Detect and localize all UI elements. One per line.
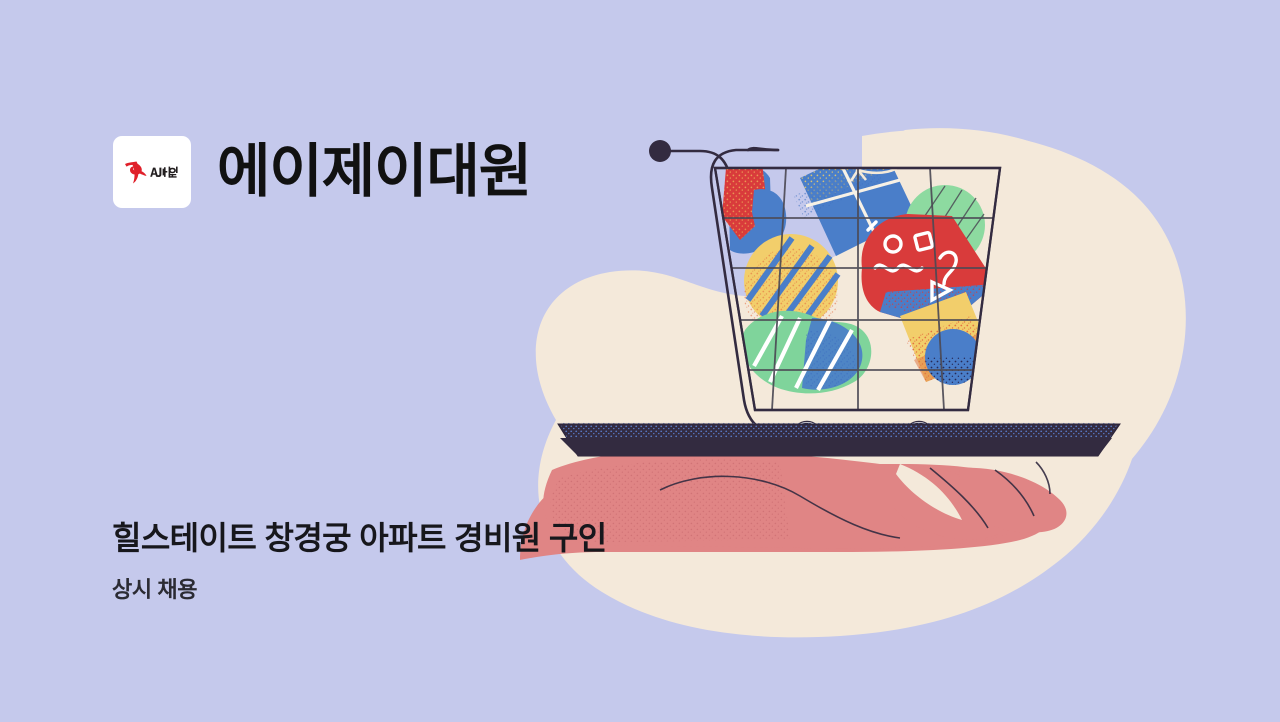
poster-header: 에이제이대원: [113, 136, 531, 208]
job-status: 상시 채용: [112, 576, 872, 605]
cart-wheels: [793, 422, 933, 436]
cart-basket: [715, 168, 1000, 410]
cart-basket-outline: [715, 168, 1000, 410]
shape-red-blue: [722, 162, 786, 254]
circle-yellow-striped: [744, 234, 838, 342]
gift-box-blue: [794, 124, 916, 256]
basket-grid: [718, 168, 996, 410]
cart-handle-knob: [649, 140, 671, 162]
poster-caption: 힐스테이트 창경궁 아파트 경비원 구인 상시 채용: [112, 518, 872, 605]
aj-daewon-logo-icon: [121, 158, 183, 186]
cart-frame: [711, 148, 960, 436]
job-title: 힐스테이트 창경궁 아파트 경비원 구인: [112, 518, 872, 558]
tag-red-memphis: [862, 214, 996, 330]
background-blob-upper: [830, 128, 1180, 430]
company-logo-badge: [113, 136, 191, 208]
poster-background: [0, 0, 1280, 722]
company-name: 에이제이대원: [217, 143, 531, 201]
job-posting-poster: 에이제이대원 힐스테이트 창경궁 아파트 경비원 구인 상시 채용: [0, 0, 1280, 722]
cart-contents: [718, 124, 996, 410]
blob-green-blue-striped: [742, 311, 872, 394]
cream-field: [693, 130, 1186, 560]
cart-wheel-halos: [789, 422, 937, 440]
circle-blue-dotted: [925, 329, 981, 385]
cart-handle: [669, 151, 730, 176]
gift-ribbon-bow: [841, 124, 901, 181]
square-yellow-orange: [900, 292, 992, 382]
circle-green-striped: [905, 185, 985, 265]
shopping-cart-on-hand-illustration: [0, 0, 1280, 722]
shelf-board: [558, 422, 1120, 456]
cart-wheels-outline: [793, 424, 933, 438]
